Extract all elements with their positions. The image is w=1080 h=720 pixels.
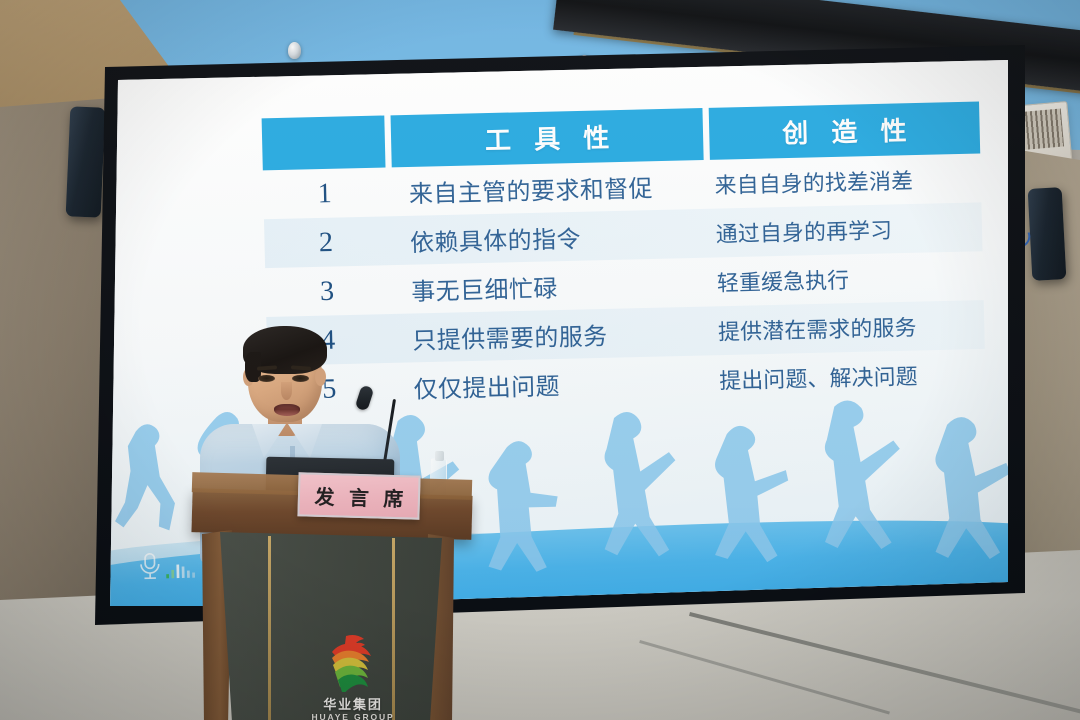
podium-gold-stripe: [268, 536, 271, 720]
podium-logo-chinese: 华业集团: [298, 694, 408, 713]
row-tool-cell: 依赖具体的指令: [387, 209, 700, 265]
row-tool-cell: 来自主管的要求和督促: [386, 160, 699, 216]
wall-speaker: [1028, 187, 1067, 281]
row-tool-cell: 事无巨细忙碌: [388, 258, 701, 314]
huaye-dragon-logo-icon: [324, 632, 378, 692]
row-creative-cell: 提出问题、解决问题: [702, 349, 986, 405]
podium: 华业集团 HUAYE GROUP 发 言 席: [178, 470, 478, 720]
row-tool-cell: 只提供需要的服务: [389, 307, 702, 363]
row-creative-cell: 轻重缓急执行: [700, 251, 984, 307]
table-header-cell-creative: 创 造 性: [709, 101, 981, 159]
presenter-eye: [292, 375, 309, 382]
podium-gold-stripe: [392, 538, 395, 720]
podium-logo-english: HUAYE GROUP: [298, 712, 408, 720]
row-creative-cell: 提供潜在需求的服务: [701, 300, 985, 356]
row-index: 3: [265, 265, 389, 317]
conference-room-photo: 工 具 性 创 造 性 1 来自主管的要求和督促 来自自身的找差消差 2 依赖具…: [0, 0, 1080, 720]
row-creative-cell: 来自自身的找差消差: [697, 153, 981, 209]
row-tool-cell: 仅仅提出问题: [390, 356, 703, 412]
presenter-ear: [315, 368, 326, 386]
row-index: 1: [263, 167, 387, 219]
row-index: 2: [264, 216, 388, 268]
nameplate: 发 言 席: [297, 472, 420, 519]
presenter-mouth: [274, 404, 300, 416]
nameplate-text: 发 言 席: [310, 480, 408, 512]
ceiling-downlight: [288, 42, 301, 59]
presenter-eye: [258, 375, 275, 382]
wall-speaker: [66, 106, 106, 217]
podium-front-panel: 华业集团 HUAYE GROUP: [206, 532, 456, 720]
row-creative-cell: 通过自身的再学习: [699, 202, 983, 258]
table-header-cell-tool: 工 具 性: [391, 108, 704, 167]
presenter-nose: [281, 382, 292, 400]
table-header-cell-blank: [262, 115, 386, 170]
presenter-hair: [243, 326, 327, 374]
